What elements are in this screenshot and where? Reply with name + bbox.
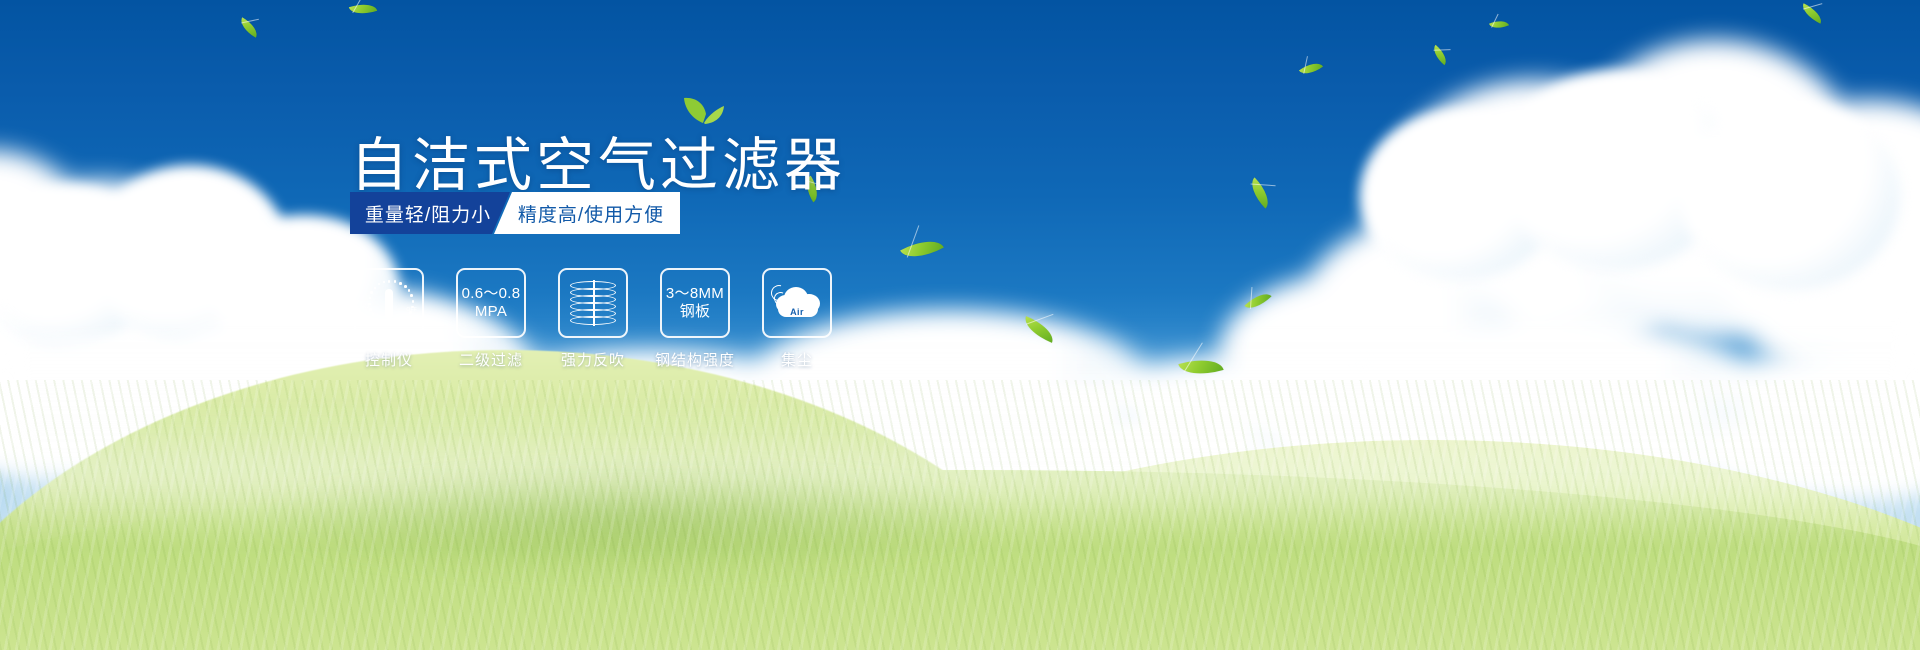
feature-icon-box: [558, 268, 628, 338]
feature-icon-box: 3～8MM 钢板: [660, 268, 730, 338]
feature-icon-box: NO OFF: [354, 268, 424, 338]
feature-item-controller[interactable]: NO OFF: [352, 268, 426, 370]
feature-list: NO OFF: [352, 268, 834, 370]
banner-content: 自洁式空气过滤器 重量轻/阻力小 精度高/使用方便 NO OFF: [0, 0, 1920, 650]
badge-group: 重量轻/阻力小 精度高/使用方便: [350, 192, 680, 234]
feature-item-dust[interactable]: Air 集尘: [760, 268, 834, 370]
feature-label: 钢结构强度: [655, 349, 735, 370]
steel-material: 钢板: [666, 303, 724, 321]
pressure-value: 0.6～0.8: [462, 285, 521, 303]
feature-item-steel[interactable]: 3～8MM 钢板 钢结构强度: [658, 268, 732, 370]
feature-icon-box: Air: [762, 268, 832, 338]
gauge-icon: NO OFF: [362, 277, 416, 329]
feature-icon-box: 0.6～0.8 MPA: [456, 268, 526, 338]
feature-label: 集尘: [781, 349, 813, 370]
feature-item-blowback[interactable]: 强力反吹: [556, 268, 630, 370]
feature-item-filtration[interactable]: 0.6～0.8 MPA 二级过滤: [454, 268, 528, 370]
feature-label: 控制仪: [365, 349, 413, 370]
pressure-unit: MPA: [462, 303, 521, 321]
pressure-icon: 0.6～0.8 MPA: [462, 285, 521, 321]
steel-thickness: 3～8MM: [666, 285, 724, 303]
page-title: 自洁式空气过滤器: [350, 118, 846, 202]
feature-label: 二级过滤: [459, 349, 523, 370]
air-label: Air: [772, 307, 822, 317]
badge-precision[interactable]: 精度高/使用方便: [494, 192, 680, 234]
feature-label: 强力反吹: [561, 349, 625, 370]
badge-lightweight[interactable]: 重量轻/阻力小: [350, 192, 510, 234]
coil-icon: [570, 280, 616, 326]
hero-banner: 自洁式空气过滤器 重量轻/阻力小 精度高/使用方便 NO OFF: [0, 0, 1920, 650]
steel-plate-icon: 3～8MM 钢板: [666, 285, 724, 321]
air-cloud-icon: Air: [772, 283, 822, 323]
